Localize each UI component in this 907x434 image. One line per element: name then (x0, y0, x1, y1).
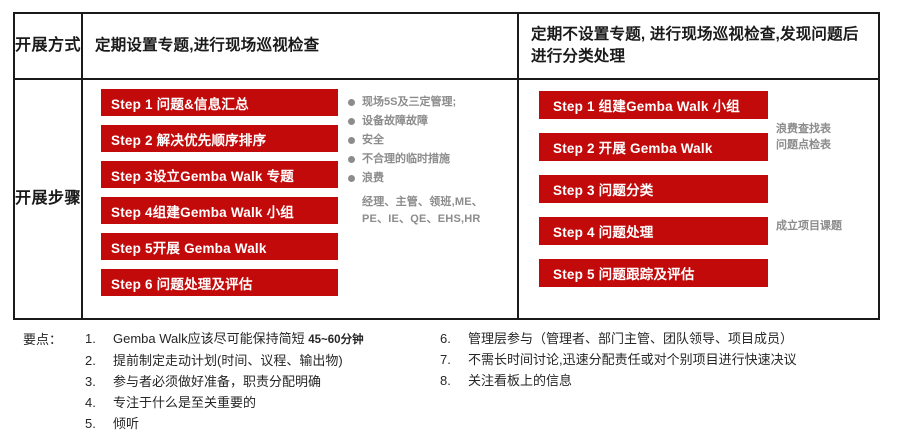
roles-line-2: PE、IE、QE、EHS,HR (362, 211, 517, 228)
list-item-text: Gemba Walk应该尽可能保持简短 45~60分钟 (113, 328, 364, 350)
step-bar[interactable]: Step 3设立Gemba Walk 专题 (101, 161, 338, 188)
column-b-content: Step 1 组建Gemba Walk 小组 Step 2 开展 Gemba W… (519, 80, 878, 318)
bullet-dot-icon (348, 175, 355, 182)
column-a-content: Step 1 问题&信息汇总 Step 2 解决优先顺序排序 Step 3设立G… (83, 80, 517, 318)
column-a-header-cell: 定期设置专题,进行现场巡视检查 (83, 14, 519, 78)
annotation-line-2: 问题点检表 (776, 138, 831, 154)
comparison-matrix: 开展方式 定期设置专题,进行现场巡视检查 定期不设置专题, 进行现场巡视检查,发… (13, 12, 880, 320)
column-a-body-cell: Step 1 问题&信息汇总 Step 2 解决优先顺序排序 Step 3设立G… (83, 80, 519, 318)
key-points-column-left: 1. Gemba Walk应该尽可能保持简短 45~60分钟 2. 提前制定走动… (85, 328, 440, 434)
list-item-text: 参与者必须做好准备，职责分配明确 (113, 371, 321, 392)
key-points-column-right: 6. 管理层参与（管理者、部门主管、团队领导、项目成员） 7. 不需长时间讨论,… (440, 328, 893, 434)
step-bar[interactable]: Step 2 开展 Gemba Walk (539, 133, 768, 161)
middle-notes-list: 现场5S及三定管理; 设备故障故障 安全 不合理的临时措施 (338, 80, 517, 318)
list-item-number: 8. (440, 370, 468, 391)
matrix-steps-row: 开展步骤 Step 1 问题&信息汇总 Step 2 解决优先顺序排序 Step… (15, 80, 878, 318)
bullet-dot-icon (348, 156, 355, 163)
right-steps-list: Step 1 组建Gemba Walk 小组 Step 2 开展 Gemba W… (519, 80, 768, 318)
annotation-project-topic: 成立项目课题 (776, 219, 842, 235)
row-label-approach: 开展方式 (15, 14, 83, 78)
note-text: 安全 (362, 134, 384, 146)
step-bar[interactable]: Step 5 问题跟踪及评估 (539, 259, 768, 287)
step-bar[interactable]: Step 2 解决优先顺序排序 (101, 125, 338, 152)
key-points-list-left: 1. Gemba Walk应该尽可能保持简短 45~60分钟 2. 提前制定走动… (85, 328, 440, 434)
step-bar[interactable]: Step 6 问题处理及评估 (101, 269, 338, 296)
bullet-dot-icon (348, 137, 355, 144)
column-b-header-text: 定期不设置专题, 进行现场巡视检查,发现问题后进行分类处理 (519, 14, 878, 78)
note-text: 浪费 (362, 172, 384, 184)
key-points-list-right: 6. 管理层参与（管理者、部门主管、团队领导、项目成员） 7. 不需长时间讨论,… (440, 328, 893, 391)
step-bar[interactable]: Step 1 组建Gemba Walk 小组 (539, 91, 768, 119)
list-item-emphasis: 45~60分钟 (308, 334, 363, 346)
step-bar[interactable]: Step 1 问题&信息汇总 (101, 89, 338, 116)
list-item: 6. 管理层参与（管理者、部门主管、团队领导、项目成员） (440, 328, 893, 349)
note-item: 浪费 (348, 172, 517, 184)
column-b-body-cell: Step 1 组建Gemba Walk 小组 Step 2 开展 Gemba W… (519, 80, 878, 318)
step-bar[interactable]: Step 3 问题分类 (539, 175, 768, 203)
note-item: 安全 (348, 134, 517, 146)
bullet-dot-icon (348, 118, 355, 125)
note-item: 不合理的临时措施 (348, 153, 517, 165)
list-item: 3. 参与者必须做好准备，职责分配明确 (85, 371, 440, 392)
column-a-header-text: 定期设置专题,进行现场巡视检查 (83, 14, 517, 78)
list-item-body: Gemba Walk应该尽可能保持简短 (113, 331, 308, 346)
list-item-number: 1. (85, 328, 113, 350)
note-item: 现场5S及三定管理; (348, 96, 517, 108)
left-steps-list: Step 1 问题&信息汇总 Step 2 解决优先顺序排序 Step 3设立G… (83, 80, 338, 318)
note-text: 设备故障故障 (362, 115, 428, 127)
list-item: 7. 不需长时间讨论,迅速分配责任或对个别项目进行快速决议 (440, 349, 893, 370)
list-item: 8. 关注看板上的信息 (440, 370, 893, 391)
step-bar[interactable]: Step 5开展 Gemba Walk (101, 233, 338, 260)
bullet-dot-icon (348, 99, 355, 106)
list-item-number: 7. (440, 349, 468, 370)
note-item: 设备故障故障 (348, 115, 517, 127)
list-item-text: 关注看板上的信息 (468, 370, 572, 391)
row-label-steps: 开展步骤 (15, 80, 83, 318)
column-b-header-cell: 定期不设置专题, 进行现场巡视检查,发现问题后进行分类处理 (519, 14, 878, 78)
right-annotations: 浪费查找表 问题点检表 成立项目课题 (768, 80, 878, 318)
list-item-number: 4. (85, 392, 113, 413)
list-item-text: 管理层参与（管理者、部门主管、团队领导、项目成员） (468, 328, 793, 349)
note-text: 不合理的临时措施 (362, 153, 450, 165)
list-item: 1. Gemba Walk应该尽可能保持简短 45~60分钟 (85, 328, 440, 350)
annotation-waste-checklist: 浪费查找表 问题点检表 (776, 122, 831, 154)
list-item-text: 专注于什么是至关重要的 (113, 392, 256, 413)
step-bar[interactable]: Step 4 问题处理 (539, 217, 768, 245)
roles-line-1: 经理、主管、领班,ME、 (362, 194, 517, 211)
key-points-section: 要点： 1. Gemba Walk应该尽可能保持简短 45~60分钟 2. 提前… (13, 328, 893, 434)
list-item-text: 不需长时间讨论,迅速分配责任或对个别项目进行快速决议 (468, 349, 797, 370)
list-item-number: 3. (85, 371, 113, 392)
annotation-line-1: 浪费查找表 (776, 122, 831, 138)
list-item: 2. 提前制定走动计划(时间、议程、输出物) (85, 350, 440, 371)
list-item-number: 2. (85, 350, 113, 371)
list-item: 4. 专注于什么是至关重要的 (85, 392, 440, 413)
matrix-header-row: 开展方式 定期设置专题,进行现场巡视检查 定期不设置专题, 进行现场巡视检查,发… (15, 14, 878, 80)
list-item-number: 6. (440, 328, 468, 349)
roles-note: 经理、主管、领班,ME、 PE、IE、QE、EHS,HR (348, 194, 517, 227)
list-item-text: 提前制定走动计划(时间、议程、输出物) (113, 350, 343, 371)
step-bar[interactable]: Step 4组建Gemba Walk 小组 (101, 197, 338, 224)
note-text: 现场5S及三定管理; (362, 96, 456, 108)
key-points-label: 要点： (13, 328, 85, 434)
